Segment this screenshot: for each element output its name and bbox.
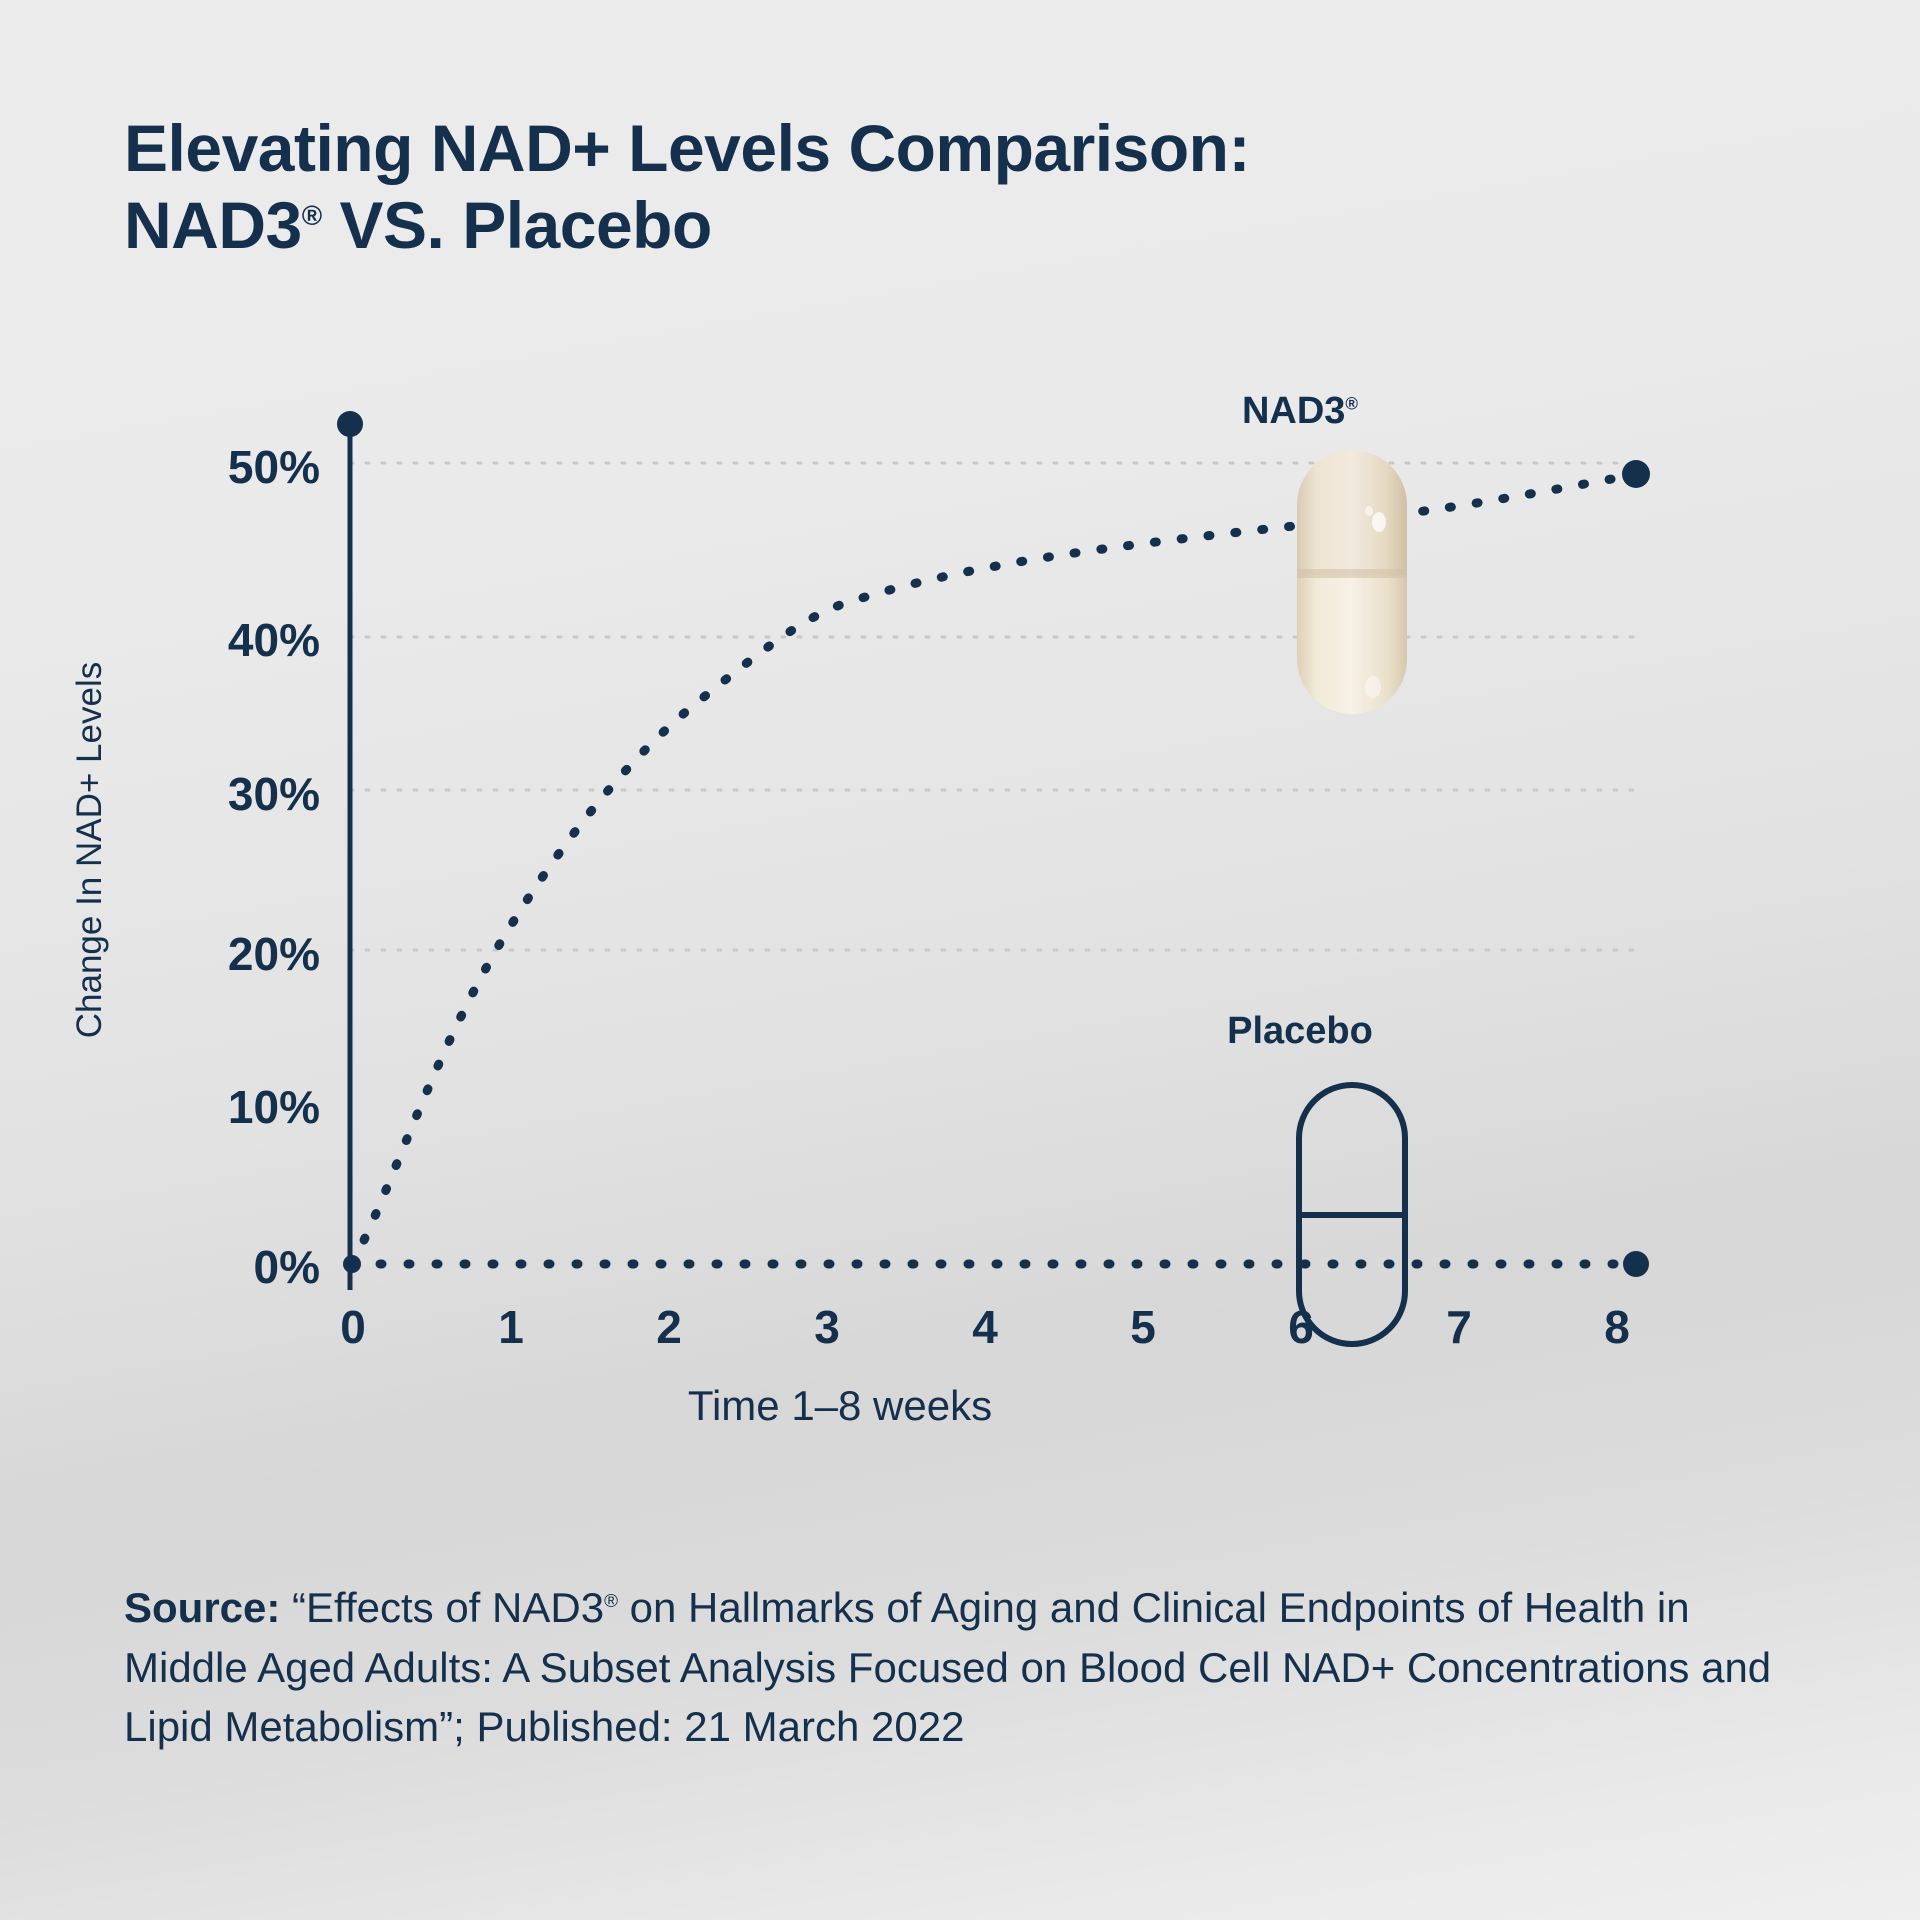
source-note: Source: “Effects of NAD3® on Hallmarks o… <box>124 1578 1814 1757</box>
series-placebo-endpoint-marker <box>1623 1251 1649 1277</box>
legend-label-placebo: Placebo <box>1170 1010 1430 1053</box>
title-line-2-prefix: NAD3 <box>124 188 302 262</box>
series-placebo-start-marker <box>343 1255 361 1273</box>
page-title: Elevating NAD+ Levels Comparison:NAD3® V… <box>124 110 1684 263</box>
x-axis-title: Time 1–8 weeks <box>520 1382 1160 1430</box>
x-tick-label-7: 7 <box>1424 1300 1494 1354</box>
registered-trademark-icon: ® <box>1345 394 1358 413</box>
source-part-1: “Effects of NAD3 <box>280 1584 604 1631</box>
legend-label-nad3-text: NAD3 <box>1242 390 1345 432</box>
placebo-capsule-icon <box>1293 1078 1411 1348</box>
x-tick-label-5: 5 <box>1108 1300 1178 1354</box>
x-tick-label-0: 0 <box>318 1300 388 1354</box>
x-tick-label-1: 1 <box>476 1300 546 1354</box>
x-tick-label-3: 3 <box>792 1300 862 1354</box>
y-tick-label-0: 0% <box>180 1240 320 1294</box>
series-nad3-line <box>352 476 1628 1264</box>
title-line-1: Elevating NAD+ Levels Comparison: <box>124 111 1250 185</box>
x-tick-label-2: 2 <box>634 1300 704 1354</box>
nad3-capsule-icon <box>1293 447 1411 717</box>
registered-trademark-icon: ® <box>604 1591 618 1612</box>
y-tick-label-40: 40% <box>180 613 320 667</box>
y-tick-label-30: 30% <box>180 767 320 821</box>
legend-label-nad3: NAD3® <box>1170 390 1430 433</box>
y-tick-label-10: 10% <box>180 1080 320 1134</box>
y-tick-label-50: 50% <box>180 440 320 494</box>
y-axis-title: Change In NAD+ Levels <box>70 640 110 1060</box>
y-tick-label-20: 20% <box>180 927 320 981</box>
x-tick-label-4: 4 <box>950 1300 1020 1354</box>
x-tick-label-8: 8 <box>1582 1300 1652 1354</box>
title-line-2-suffix: VS. Placebo <box>322 188 712 262</box>
series-nad3-endpoint-marker <box>1622 460 1650 488</box>
registered-trademark-icon: ® <box>302 200 322 231</box>
source-label: Source: <box>124 1584 280 1631</box>
gridlines <box>350 463 1640 950</box>
y-axis-top-marker <box>337 411 363 437</box>
